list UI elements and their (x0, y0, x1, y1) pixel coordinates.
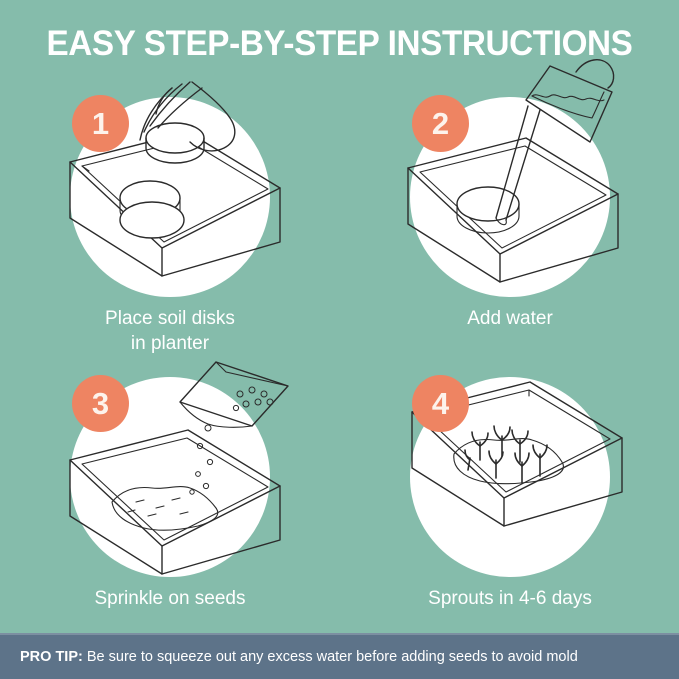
step-card-2: 2 Add water (340, 84, 679, 364)
step-4-caption: Sprouts in 4-6 days (340, 586, 679, 611)
steps-grid: 1 Place soil disks in planter (0, 84, 679, 624)
step-2-number-badge: 2 (412, 95, 469, 152)
pro-tip-label: PRO TIP: (20, 649, 83, 665)
step-card-3: 3 Sprinkle on seeds (0, 364, 340, 644)
step-1-number-badge: 1 (72, 95, 129, 152)
step-2-caption: Add water (340, 306, 679, 331)
pro-tip-text: PRO TIP: Be sure to squeeze out any exce… (0, 649, 578, 665)
step-3-illustration: 3 (0, 364, 340, 586)
step-3-caption: Sprinkle on seeds (0, 586, 340, 611)
step-4-illustration: 4 (340, 364, 679, 586)
pro-tip-body: Be sure to squeeze out any excess water … (83, 649, 578, 665)
infographic-page: EASY STEP-BY-STEP INSTRUCTIONS (0, 0, 679, 679)
step-1-illustration: 1 (0, 84, 340, 306)
step-card-1: 1 Place soil disks in planter (0, 84, 340, 364)
step-1-caption: Place soil disks in planter (0, 306, 340, 356)
pro-tip-bar: PRO TIP: Be sure to squeeze out any exce… (0, 633, 679, 679)
step-card-4: 4 Sprouts in 4-6 days (340, 364, 679, 644)
step-3-number-badge: 3 (72, 375, 129, 432)
step-4-number-badge: 4 (412, 375, 469, 432)
page-title: EASY STEP-BY-STEP INSTRUCTIONS (17, 24, 662, 64)
step-2-illustration: 2 (340, 84, 679, 306)
